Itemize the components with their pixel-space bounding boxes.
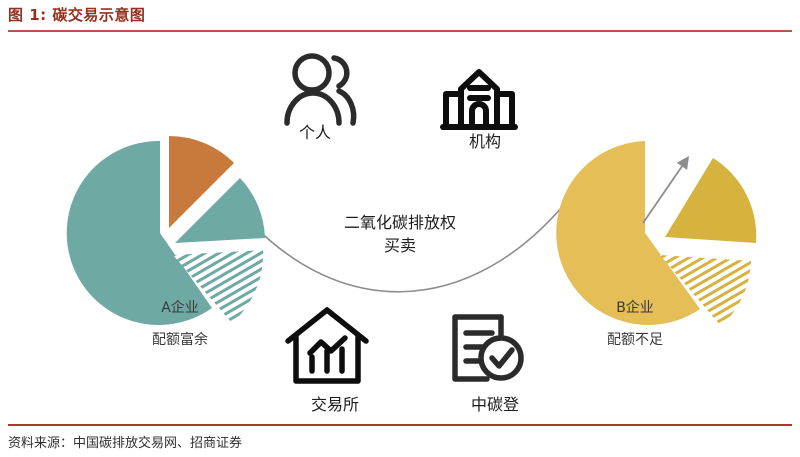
icon-label-individual: 个人 xyxy=(255,121,375,144)
flow-label-line1: 二氧化碳排放权 xyxy=(300,211,500,234)
page-title: 图 1: 碳交易示意图 xyxy=(8,4,145,25)
company-b-label: B企业 配额不足 xyxy=(545,298,725,351)
source-note: 资料来源：中国碳排放交易网、招商证券 xyxy=(8,432,242,451)
company-a-status: 配额富余 xyxy=(90,330,270,350)
carbon-trading-figure: 图 1: 碳交易示意图 xyxy=(0,0,800,457)
icon-label-institution: 机构 xyxy=(425,130,545,153)
company-a-name: A企业 xyxy=(90,298,270,318)
building-icon xyxy=(443,72,515,127)
company-a-label: A企业 配额富余 xyxy=(90,298,270,351)
company-b-name: B企业 xyxy=(545,298,725,318)
document-check-icon xyxy=(455,317,521,379)
exchange-house-icon xyxy=(288,310,366,381)
footer-divider xyxy=(8,424,792,426)
figure-title-bar: 图 1: 碳交易示意图 xyxy=(0,0,800,33)
company-b-status: 配额不足 xyxy=(545,330,725,350)
icon-label-exchange: 交易所 xyxy=(265,393,405,416)
title-divider xyxy=(8,30,792,32)
icon-label-registry: 中碳登 xyxy=(425,393,565,416)
flow-label: 二氧化碳排放权 买卖 xyxy=(300,211,500,257)
flow-label-line2: 买卖 xyxy=(300,234,500,257)
people-icon xyxy=(287,56,354,123)
diagram-canvas: 个人 机构 交易所 中碳登 二氧化碳排放权 买卖 A企业 配额富余 B企业 配额… xyxy=(0,33,800,424)
company-a-pie-chart xyxy=(67,136,265,325)
